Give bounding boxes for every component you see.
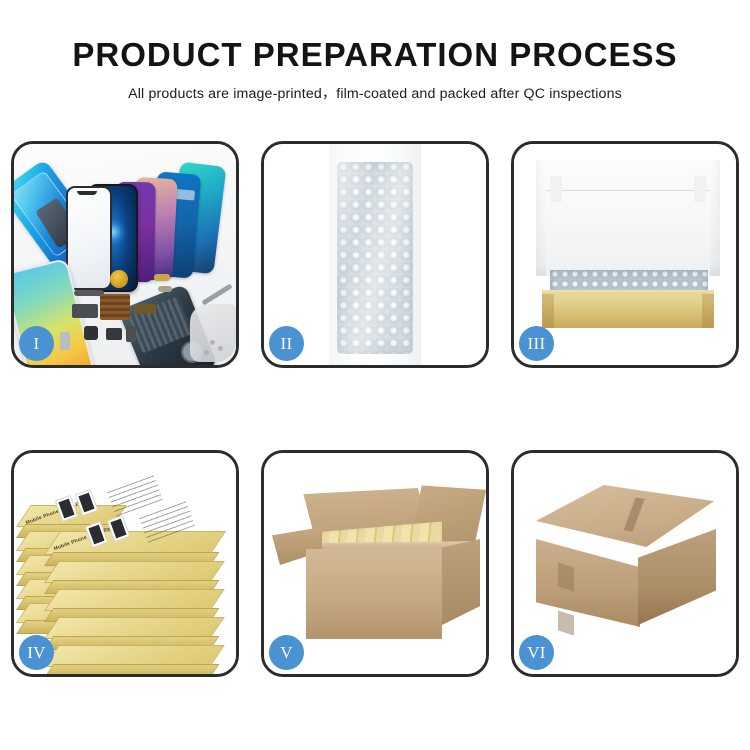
lid-tab — [550, 176, 562, 202]
retail-box — [44, 561, 210, 583]
step-panel-2: II — [261, 141, 489, 368]
step-badge-6: VI — [519, 635, 554, 670]
sim-tray-icon — [60, 332, 70, 350]
carton-body-icon — [306, 549, 442, 639]
speaker-icon — [106, 328, 122, 340]
step-badge-2: II — [269, 326, 304, 361]
page-title: PRODUCT PREPARATION PROCESS — [0, 0, 750, 73]
box-side — [44, 664, 219, 674]
side-button-icon — [158, 286, 172, 292]
retail-box — [44, 589, 210, 611]
screw-icon — [204, 350, 209, 355]
vibration-motor-icon — [110, 270, 128, 288]
lid-tab — [694, 176, 706, 202]
plastic-sheen — [337, 162, 413, 354]
step-panel-5: V — [261, 450, 489, 677]
battery-connector-icon — [126, 326, 136, 342]
flex-cable-icon — [134, 304, 156, 314]
process-steps-grid: I II III — [11, 141, 739, 677]
retail-box — [44, 645, 210, 667]
screw-icon — [210, 340, 215, 345]
step-panel-6: VI — [511, 450, 739, 677]
screw-icon — [218, 346, 223, 351]
kraft-box-icon — [542, 294, 714, 328]
flex-cable-icon — [72, 304, 98, 318]
step-panel-3: III — [511, 141, 739, 368]
retail-box — [44, 617, 210, 639]
tempered-glass-icon — [66, 186, 112, 290]
product-preparation-infographic: PRODUCT PREPARATION PROCESS All products… — [0, 0, 750, 750]
carton-tape-mark — [558, 562, 574, 591]
step-panel-1: I — [11, 141, 239, 368]
header: PRODUCT PREPARATION PROCESS All products… — [0, 0, 750, 103]
side-button-icon — [154, 274, 170, 281]
logic-board-icon — [100, 294, 130, 320]
step-panel-4: Mobile Phone Spare Parts Mobile Phone Sp… — [11, 450, 239, 677]
box-lid-icon — [536, 160, 720, 276]
camera-module-icon — [84, 326, 98, 340]
box-spec-lines — [107, 475, 163, 517]
page-subtitle: All products are image-printed，film-coat… — [0, 73, 750, 103]
step-badge-3: III — [519, 326, 554, 361]
hand-icon — [190, 304, 236, 362]
step-badge-1: I — [19, 326, 54, 361]
step-badge-4: IV — [19, 635, 54, 670]
step-badge-5: V — [269, 635, 304, 670]
